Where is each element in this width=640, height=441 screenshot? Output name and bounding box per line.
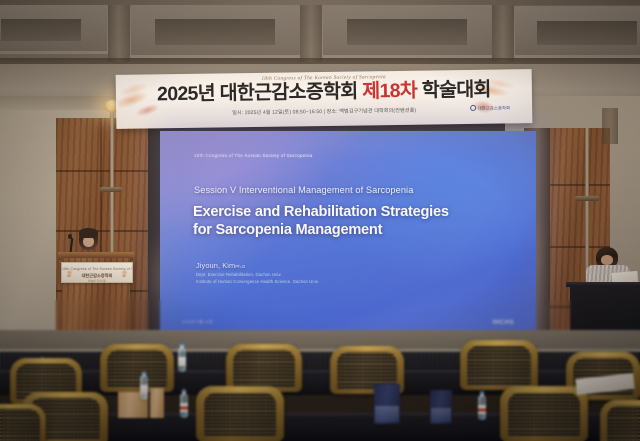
podium-sign-line1: 18th Congress of The Korean Society of S… xyxy=(62,267,132,271)
chair xyxy=(196,386,284,441)
banner-society: 대한근감소증학회 xyxy=(219,81,357,105)
seated-person-face xyxy=(601,255,613,265)
conference-hall-photo: 18th Congress of The Korean Society of S… xyxy=(0,0,640,441)
product-box-navy xyxy=(374,384,400,424)
banner-event: 학술대회 xyxy=(422,79,491,102)
podium-sign-line3: 제18차 학술대회 xyxy=(62,279,132,283)
event-banner: 18th Congress of The Korean Society of S… xyxy=(116,69,533,129)
paper-bag xyxy=(150,388,164,418)
banner-sponsor-logo: 대한근감소증학회 xyxy=(470,104,511,112)
sponsor-mark-icon xyxy=(470,105,476,111)
banner-edition: 제18차 xyxy=(362,80,417,103)
banner-year: 2025년 xyxy=(157,83,215,106)
banner-sponsor-text: 대한근감소증학회 xyxy=(478,105,511,110)
chair xyxy=(0,404,46,441)
presenter-hair xyxy=(79,228,98,238)
water-bottle xyxy=(140,376,148,400)
chair xyxy=(600,400,640,441)
sconce-tray-right xyxy=(575,196,599,201)
pillar-shadow-upper xyxy=(602,108,618,144)
podium-sign: 18th Congress of The Korean Society of S… xyxy=(61,262,133,283)
sconce-tray-left xyxy=(100,187,122,192)
product-box-navy xyxy=(430,390,452,424)
water-bottle xyxy=(178,348,186,372)
chair xyxy=(460,340,538,390)
projection-screen: 18th Congress of The Korean Society of S… xyxy=(160,131,536,339)
water-bottle xyxy=(180,394,188,418)
water-bottle xyxy=(478,396,486,420)
chair xyxy=(100,344,174,392)
chair xyxy=(226,344,302,392)
chair xyxy=(500,386,588,441)
screen-vignette xyxy=(160,131,536,339)
